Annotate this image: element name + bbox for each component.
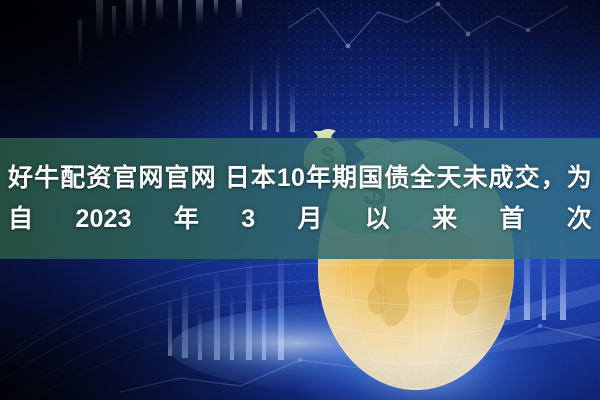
news-banner-image: $ $ 好牛配资官网官网 日本10年期国债全天未成交，为自2023年3月以来首次	[0, 0, 600, 400]
headline-container: 好牛配资官网官网 日本10年期国债全天未成交，为自2023年3月以来首次	[0, 138, 600, 259]
headline-text: 好牛配资官网官网 日本10年期国债全天未成交，为自2023年3月以来首次	[8, 158, 592, 240]
